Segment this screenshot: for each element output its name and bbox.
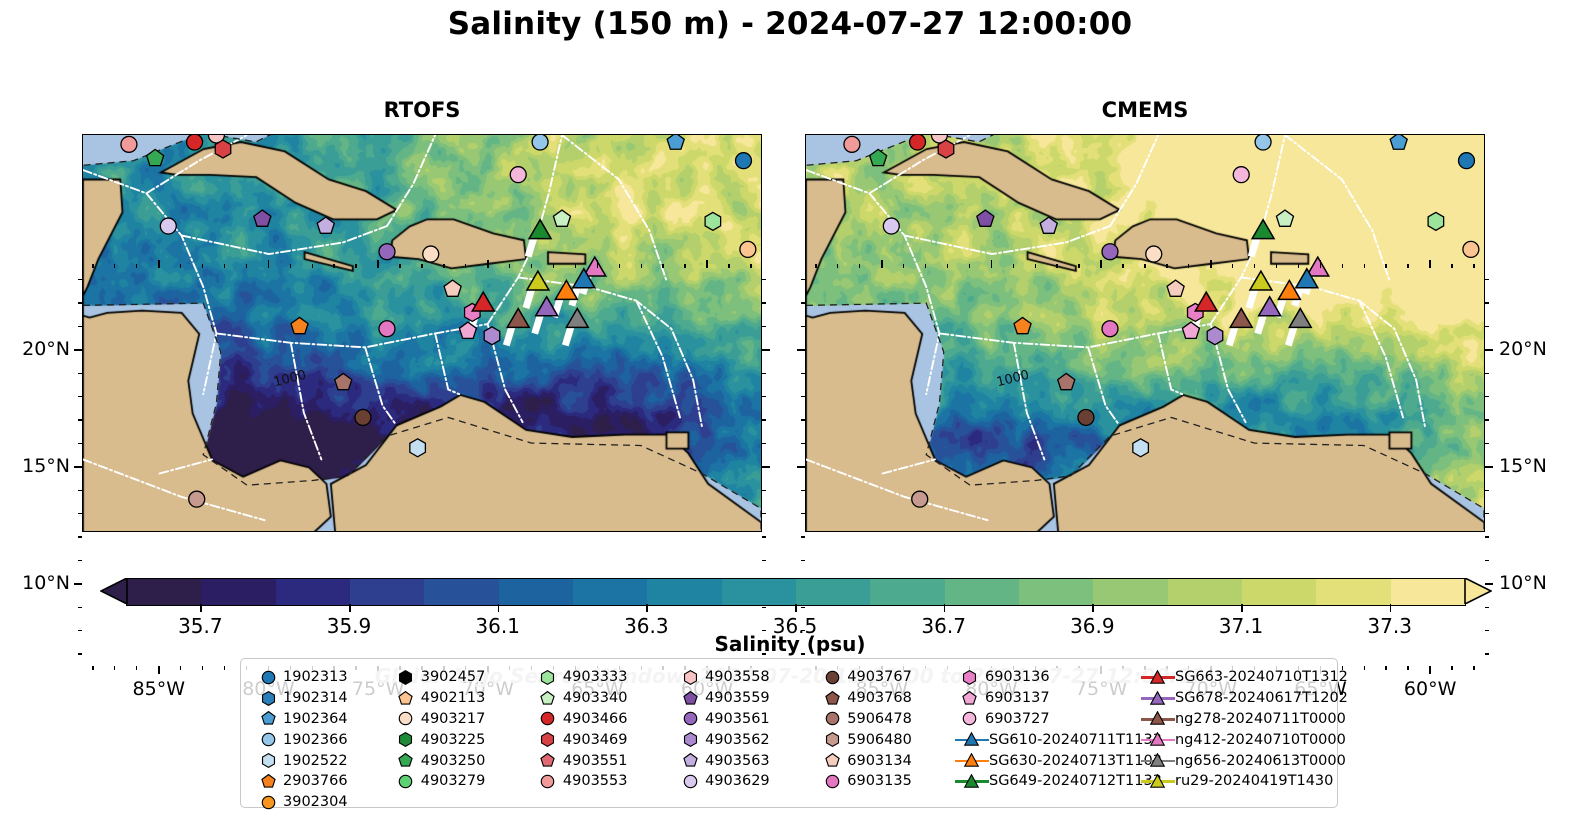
colorbar-band-12	[1019, 579, 1093, 605]
argo-float-marker[interactable]	[291, 317, 308, 333]
triangle-marker-icon	[1149, 711, 1166, 726]
colorbar-band-11	[945, 579, 1019, 605]
colorbar-band-3	[350, 579, 424, 605]
glider-marker[interactable]	[529, 220, 551, 239]
eez-boundary-line	[939, 324, 1210, 347]
legend-item[interactable]: 1902314	[253, 688, 391, 709]
argo-float-marker[interactable]	[912, 491, 928, 507]
legend-item[interactable]: 6903134	[817, 750, 955, 771]
y-tick	[762, 326, 766, 327]
argo-float-marker[interactable]	[1390, 135, 1407, 149]
y-tick	[801, 396, 805, 397]
y-tick	[762, 279, 766, 280]
legend-item[interactable]: 1902366	[253, 729, 391, 750]
legend-item-label: 6903727	[985, 711, 1050, 727]
argo-float-marker[interactable]	[910, 135, 926, 150]
legend-item[interactable]: ng278-20240711T0000	[1141, 709, 1327, 730]
argo-float-marker[interactable]	[938, 140, 954, 158]
legend-item[interactable]: SG630-20240713T1103	[955, 750, 1141, 771]
argo-float-marker[interactable]	[1255, 135, 1271, 150]
triangle-marker-icon	[963, 753, 980, 768]
y-tick	[801, 302, 805, 303]
y-axis-label: 10°N	[1499, 572, 1547, 594]
y-tick	[801, 419, 805, 420]
argo-float-marker[interactable]	[532, 135, 548, 150]
x-tick	[553, 264, 554, 268]
x-axis-label: 60°W	[1385, 678, 1475, 700]
y-tick	[801, 326, 805, 327]
glider-marker[interactable]	[472, 292, 494, 311]
y-tick	[1485, 279, 1489, 280]
triangle-marker-icon	[1149, 774, 1166, 789]
argo-float-marker[interactable]	[379, 321, 395, 337]
x-tick	[1429, 260, 1431, 268]
legend-item[interactable]: ng412-20240710T0000	[1141, 729, 1327, 750]
legend-item-label: ng656-20240613T0000	[1175, 753, 1346, 769]
legend-item[interactable]: 2903766	[253, 771, 391, 792]
legend-marker	[675, 752, 705, 769]
legend-item-label: 1902314	[283, 690, 348, 706]
x-tick	[114, 264, 115, 268]
y-tick	[1485, 419, 1489, 420]
legend-item[interactable]: SG678-20240617T1202	[1141, 688, 1327, 709]
legend-item[interactable]: SG663-20240710T1312	[1141, 667, 1327, 688]
y-tick	[762, 466, 770, 468]
glider-marker[interactable]	[566, 308, 588, 327]
argo-float-marker[interactable]	[379, 244, 395, 260]
x-tick	[1078, 264, 1079, 268]
y-axis-label: 20°N	[1499, 338, 1547, 360]
argo-float-marker[interactable]	[740, 241, 756, 257]
x-tick	[881, 260, 883, 268]
legend-marker	[533, 773, 563, 790]
x-tick	[969, 264, 970, 268]
legend-item-label: ru29-20240419T1430	[1175, 773, 1333, 789]
hexagon-marker-icon	[260, 752, 277, 769]
x-tick	[136, 666, 137, 670]
x-tick	[925, 264, 926, 268]
legend-item-label: 4903217	[421, 711, 486, 727]
glider-marker[interactable]	[1230, 308, 1252, 327]
argo-float-marker[interactable]	[510, 167, 526, 183]
legend-item-label: SG663-20240710T1312	[1175, 669, 1348, 685]
legend-item[interactable]: 3902304	[253, 792, 391, 813]
glider-marker[interactable]	[1250, 271, 1272, 290]
legend-item-label: 6903135	[847, 773, 912, 789]
legend-item[interactable]: 1902364	[253, 709, 391, 730]
legend-item-label: 1902364	[283, 711, 348, 727]
y-tick	[78, 302, 82, 303]
legend-item[interactable]: 4903553	[533, 771, 675, 792]
contour-label-1000: 1000	[272, 368, 308, 391]
legend-marker	[675, 690, 705, 707]
legend-item[interactable]: SG649-20240712T1133	[955, 771, 1141, 792]
legend-item-label: 3902304	[283, 794, 348, 810]
y-tick	[1485, 607, 1489, 608]
colorbar-tick	[1092, 604, 1094, 612]
argo-float-marker[interactable]	[410, 439, 426, 457]
x-tick	[333, 264, 334, 268]
eez-boundary-line	[160, 459, 212, 473]
colorbar-band-15	[1242, 579, 1316, 605]
x-tick	[903, 264, 904, 268]
x-tick	[224, 666, 225, 670]
argo-float-marker[interactable]	[1058, 373, 1075, 389]
y-axis-label: 10°N	[0, 572, 70, 594]
legend-item-label: 4903562	[705, 732, 770, 748]
argo-float-marker[interactable]	[147, 149, 164, 165]
argo-float-marker[interactable]	[1428, 212, 1444, 230]
x-tick	[312, 264, 313, 268]
legend-item[interactable]: ru29-20240419T1430	[1141, 771, 1327, 792]
map-panel-rtofs: RTOFS 1000 85°W80°W75°W70°W65°W60°W20°N1…	[82, 134, 762, 532]
x-tick	[859, 264, 860, 268]
argo-float-marker[interactable]	[160, 218, 176, 234]
hexagon-marker-icon	[961, 669, 978, 686]
circle-marker-icon	[397, 710, 414, 727]
argo-float-marker[interactable]	[215, 140, 231, 158]
legend-marker	[391, 752, 421, 769]
legend[interactable]: 1902313190231419023641902366190252229037…	[240, 658, 1338, 808]
eez-boundary-line	[1014, 343, 1045, 460]
legend-item[interactable]: 5906480	[817, 729, 955, 750]
legend-item[interactable]: 6903137	[955, 688, 1141, 709]
argo-float-marker[interactable]	[1078, 409, 1094, 425]
x-tick	[465, 264, 466, 268]
legend-column-2: 4903333490334049034664903469490355149035…	[533, 667, 675, 813]
legend-item-label: 1902366	[283, 732, 348, 748]
x-tick	[750, 264, 751, 268]
argo-float-marker[interactable]	[1276, 210, 1293, 226]
colorbar-band-13	[1093, 579, 1167, 605]
y-tick	[762, 490, 766, 491]
y-tick	[801, 279, 805, 280]
legend-marker	[817, 710, 847, 727]
hexagon-marker-icon	[397, 731, 414, 748]
legend-item[interactable]: 4903629	[675, 771, 817, 792]
legend-item[interactable]: 4903466	[533, 709, 675, 730]
legend-item-label: 4903767	[847, 669, 912, 685]
legend-marker	[817, 773, 847, 790]
x-tick	[443, 264, 444, 268]
legend-item[interactable]: ng656-20240613T0000	[1141, 750, 1327, 771]
x-tick	[1298, 264, 1299, 268]
x-tick	[1144, 264, 1145, 268]
hexagon-marker-icon	[539, 731, 556, 748]
argo-float-marker[interactable]	[187, 135, 203, 150]
legend-column-4: 4903767490376859064785906480690313469031…	[817, 667, 955, 813]
page-title: Salinity (150 m) - 2024-07-27 12:00:00	[0, 6, 1580, 42]
legend-item-label: 4903279	[421, 773, 486, 789]
legend-column-1: 3902457490211349032174903225490325049032…	[391, 667, 533, 813]
legend-item[interactable]: 5906478	[817, 709, 955, 730]
y-tick	[1485, 513, 1489, 514]
colorbar-tick	[944, 604, 946, 612]
legend-item-label: 4903768	[847, 690, 912, 706]
colorbar-tick	[200, 604, 202, 612]
argo-float-marker[interactable]	[1014, 317, 1031, 333]
colorbar-tick	[1241, 604, 1243, 612]
legend-item[interactable]: 4903562	[675, 729, 817, 750]
legend-item[interactable]: 6903135	[817, 771, 955, 792]
legend-item[interactable]: SG610-20240711T1133	[955, 729, 1141, 750]
map-canvas-cmems[interactable]: 1000	[805, 134, 1485, 532]
y-tick	[78, 560, 82, 561]
legend-item[interactable]: 4903551	[533, 750, 675, 771]
argo-float-marker[interactable]	[705, 212, 721, 230]
map-overlay-rtofs: 1000	[83, 135, 761, 532]
legend-item-label: 6903137	[985, 690, 1050, 706]
y-tick	[78, 396, 82, 397]
colorbar-band-6	[573, 579, 647, 605]
circle-marker-icon	[682, 773, 699, 790]
legend-item-label: 4903469	[563, 732, 628, 748]
eez-boundary-line	[904, 226, 1110, 254]
x-tick	[1210, 260, 1212, 268]
x-tick	[1122, 264, 1123, 268]
argo-float-marker[interactable]	[977, 210, 994, 226]
x-tick	[1385, 264, 1386, 268]
legend-item[interactable]: 4903767	[817, 667, 955, 688]
y-tick	[762, 349, 770, 351]
x-tick	[399, 264, 400, 268]
argo-float-marker[interactable]	[189, 491, 205, 507]
colorbar-band-17	[1391, 579, 1465, 605]
x-tick	[1035, 264, 1036, 268]
x-tick	[92, 264, 93, 268]
hexagon-marker-icon	[682, 669, 699, 686]
hexagon-marker-icon	[539, 669, 556, 686]
circle-marker-icon	[824, 669, 841, 686]
x-tick	[815, 264, 816, 268]
eez-boundary-line	[1158, 333, 1182, 394]
triangle-marker-icon	[1149, 732, 1166, 747]
legend-marker	[253, 794, 283, 811]
eez-boundary-line	[488, 135, 562, 324]
legend-item[interactable]: 1902313	[253, 667, 391, 688]
panel-title-cmems: CMEMS	[805, 98, 1485, 122]
legend-item-label: 4903629	[705, 773, 770, 789]
y-tick	[762, 396, 766, 397]
argo-float-marker[interactable]	[553, 210, 570, 226]
y-tick	[78, 443, 82, 444]
y-tick	[1485, 396, 1489, 397]
eez-boundary-line	[1211, 135, 1285, 324]
argo-float-marker[interactable]	[870, 149, 887, 165]
legend-column-0: 1902313190231419023641902366190252229037…	[253, 667, 391, 813]
argo-float-marker[interactable]	[484, 327, 500, 345]
argo-float-marker[interactable]	[736, 153, 752, 169]
eez-boundary-line	[387, 135, 435, 226]
eez-boundary-line	[216, 324, 487, 347]
legend-item-label: 4903563	[705, 753, 770, 769]
triangle-marker-icon	[963, 774, 980, 789]
glider-track-swatch	[1141, 712, 1175, 726]
x-tick	[1451, 666, 1452, 670]
argo-float-marker[interactable]	[355, 409, 371, 425]
argo-float-marker[interactable]	[1233, 167, 1249, 183]
y-tick	[1485, 466, 1493, 468]
x-tick	[1013, 264, 1014, 268]
legend-item-label: 4903340	[563, 690, 628, 706]
argo-float-marker[interactable]	[423, 246, 439, 262]
x-tick	[706, 260, 708, 268]
legend-column-5: 690313669031376903727SG610-20240711T1133…	[955, 667, 1141, 813]
x-tick	[531, 264, 532, 268]
argo-float-marker[interactable]	[1146, 246, 1162, 262]
legend-item[interactable]: 4903768	[817, 688, 955, 709]
y-tick	[801, 560, 805, 561]
x-tick	[728, 264, 729, 268]
argo-float-marker[interactable]	[1167, 280, 1184, 296]
legend-item[interactable]: 4903340	[533, 688, 675, 709]
x-tick	[991, 260, 993, 268]
legend-item-label: 4903250	[421, 753, 486, 769]
eez-boundary-line	[883, 459, 935, 473]
eez-boundary-line	[181, 226, 387, 254]
legend-item[interactable]: 4903559	[675, 688, 817, 709]
colorbar-label: Salinity (psu)	[0, 632, 1580, 656]
glider-marker[interactable]	[1252, 220, 1274, 239]
legend-item[interactable]: 4903558	[675, 667, 817, 688]
glider-marker[interactable]	[1195, 292, 1217, 311]
y-tick	[801, 490, 805, 491]
map-canvas-rtofs[interactable]: 1000	[82, 134, 762, 532]
legend-item[interactable]: 4903250	[391, 750, 533, 771]
x-tick	[246, 264, 247, 268]
legend-item[interactable]: 4903561	[675, 709, 817, 730]
x-tick	[158, 666, 160, 674]
circle-marker-icon	[260, 669, 277, 686]
legend-item[interactable]: 4903563	[675, 750, 817, 771]
legend-item-label: 1902522	[283, 753, 348, 769]
x-tick	[1232, 264, 1233, 268]
argo-float-marker[interactable]	[844, 136, 860, 152]
y-axis-label: 20°N	[0, 338, 70, 360]
x-tick	[1473, 264, 1474, 268]
legend-item[interactable]: 4903217	[391, 709, 533, 730]
hexagon-marker-icon	[260, 690, 277, 707]
legend-marker	[675, 710, 705, 727]
x-tick	[202, 666, 203, 670]
colorbar-tick	[795, 604, 797, 612]
argo-float-marker[interactable]	[1102, 321, 1118, 337]
argo-float-marker[interactable]	[335, 373, 352, 389]
colorbar-band-14	[1168, 579, 1242, 605]
glider-marker[interactable]	[507, 308, 529, 327]
legend-marker	[817, 752, 847, 769]
glider-track-swatch	[1141, 754, 1175, 768]
argo-float-marker[interactable]	[883, 218, 899, 234]
argo-float-marker[interactable]	[1040, 217, 1057, 233]
hexagon-marker-icon	[397, 669, 414, 686]
legend-item-label: 5906478	[847, 711, 912, 727]
argo-float-marker[interactable]	[1459, 153, 1475, 169]
glider-track-swatch	[1141, 774, 1175, 788]
x-tick	[1407, 666, 1408, 670]
legend-marker	[533, 731, 563, 748]
argo-float-marker[interactable]	[121, 136, 137, 152]
argo-float-marker[interactable]	[254, 210, 271, 226]
legend-item[interactable]: 1902522	[253, 750, 391, 771]
legend-marker	[955, 710, 985, 727]
y-tick	[78, 373, 82, 374]
legend-item[interactable]: 4902113	[391, 688, 533, 709]
x-tick	[575, 264, 576, 268]
argo-float-marker[interactable]	[1463, 241, 1479, 257]
eez-boundary-line	[83, 459, 265, 520]
argo-float-marker[interactable]	[1207, 327, 1223, 345]
legend-marker	[391, 710, 421, 727]
colorbar-band-16	[1316, 579, 1390, 605]
panel-title-rtofs: RTOFS	[82, 98, 762, 122]
colorbar-band-1	[201, 579, 275, 605]
pentagon-marker-icon	[824, 690, 841, 707]
y-tick	[762, 560, 766, 561]
legend-item[interactable]: 6903727	[955, 709, 1141, 730]
x-tick	[202, 264, 203, 268]
legend-item[interactable]: 4903279	[391, 771, 533, 792]
y-tick	[801, 513, 805, 514]
pentagon-marker-icon	[539, 690, 556, 707]
argo-float-marker[interactable]	[317, 217, 334, 233]
legend-item-label: 4903225	[421, 732, 486, 748]
x-tick	[1451, 264, 1452, 268]
x-tick	[1385, 666, 1386, 670]
x-tick	[1342, 264, 1343, 268]
legend-marker	[675, 731, 705, 748]
argo-float-marker[interactable]	[667, 135, 684, 149]
pentagon-marker-icon	[682, 690, 699, 707]
colorbar-band-2	[276, 579, 350, 605]
x-tick	[597, 260, 599, 268]
legend-item[interactable]: 4903469	[533, 729, 675, 750]
legend-item[interactable]: 6903136	[955, 667, 1141, 688]
colorbar-gradient	[126, 578, 1466, 606]
legend-item-label: 4903559	[705, 690, 770, 706]
legend-item[interactable]: 4903225	[391, 729, 533, 750]
glider-track-swatch	[1141, 733, 1175, 747]
legend-item[interactable]: 3902457	[391, 667, 533, 688]
y-tick	[78, 279, 82, 280]
y-tick	[762, 373, 766, 374]
legend-marker	[817, 690, 847, 707]
glider-marker[interactable]	[527, 271, 549, 290]
x-tick	[268, 260, 270, 268]
colorbar-band-0	[127, 579, 201, 605]
glider-marker[interactable]	[1289, 308, 1311, 327]
argo-float-marker[interactable]	[1102, 244, 1118, 260]
circle-marker-icon	[397, 773, 414, 790]
y-tick	[74, 349, 82, 351]
colorbar-band-9	[796, 579, 870, 605]
colorbar: 35.735.936.136.336.536.736.937.137.3	[100, 578, 1490, 604]
hexagon-marker-icon	[682, 731, 699, 748]
legend-marker	[253, 731, 283, 748]
y-tick	[797, 349, 805, 351]
legend-item-label: SG649-20240712T1133	[989, 773, 1162, 789]
legend-item[interactable]: 4903333	[533, 667, 675, 688]
argo-float-marker[interactable]	[1133, 439, 1149, 457]
y-tick	[78, 326, 82, 327]
argo-float-marker[interactable]	[444, 280, 461, 296]
map-overlay-cmems: 1000	[806, 135, 1484, 532]
colorbar-tick	[1390, 604, 1392, 612]
legend-marker	[391, 731, 421, 748]
y-tick	[1485, 302, 1489, 303]
pentagon-marker-icon	[961, 690, 978, 707]
hexagon-marker-icon	[824, 731, 841, 748]
